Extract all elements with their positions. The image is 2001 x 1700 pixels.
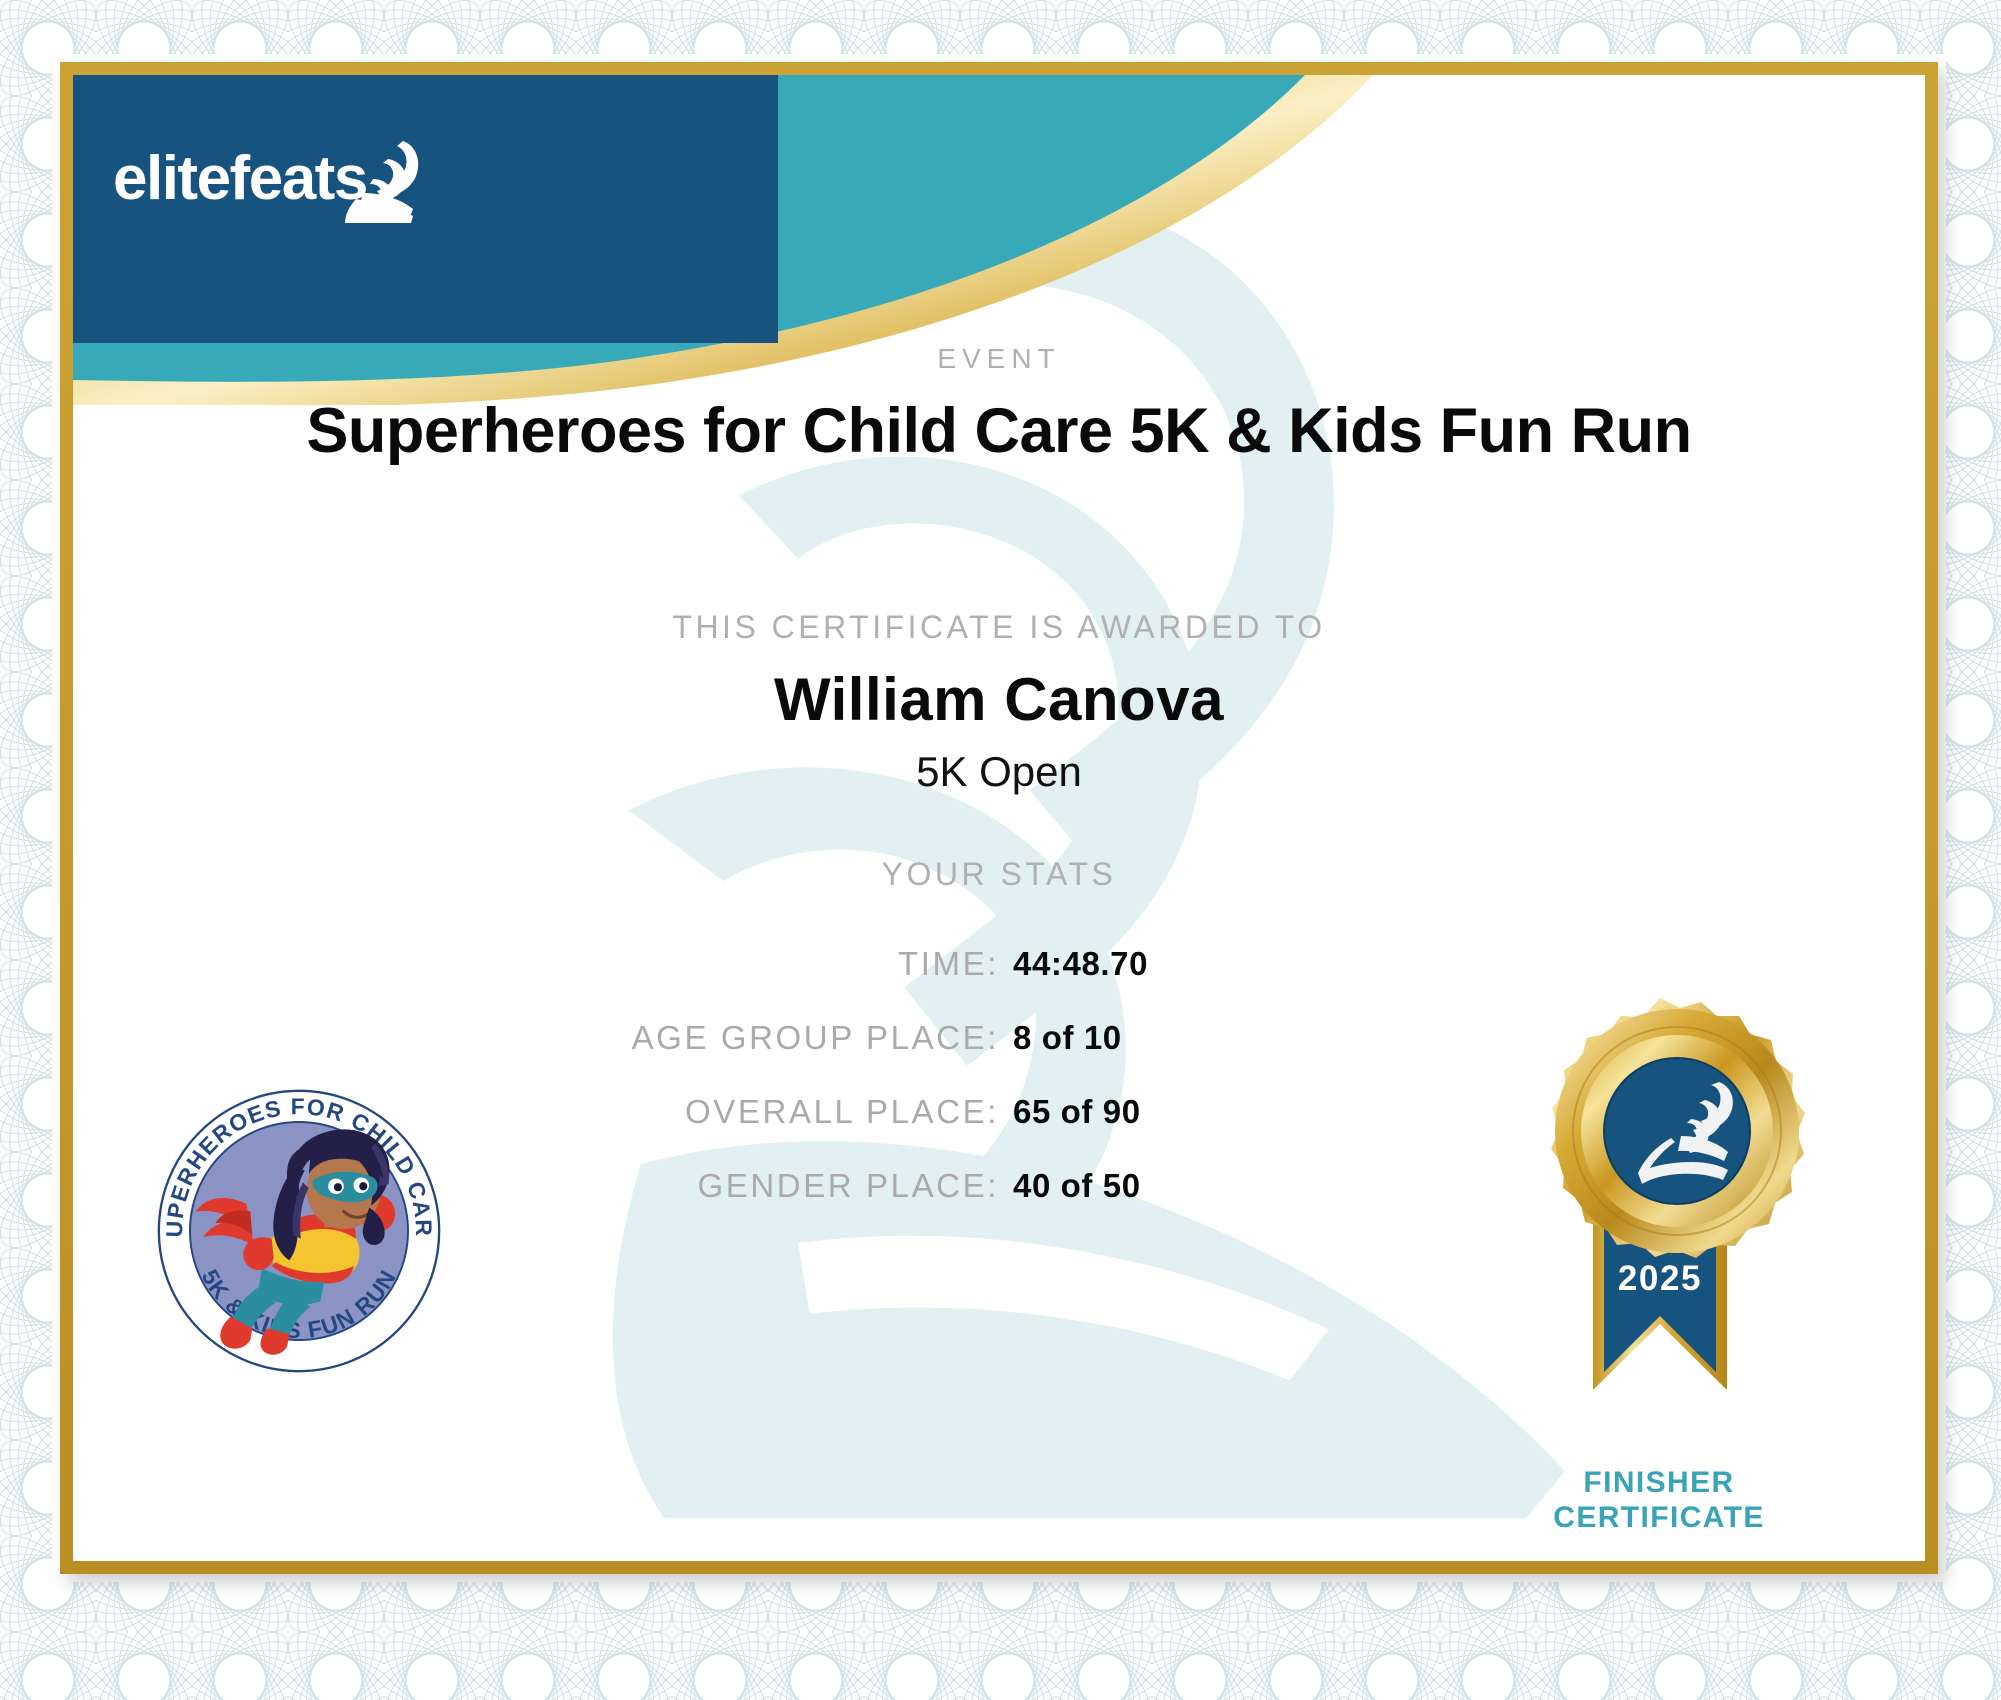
stat-value: 44:48.70: [999, 945, 1469, 983]
awarded-to-label: THIS CERTIFICATE IS AWARDED TO: [73, 609, 1925, 646]
ribbon-year-text: 2025: [1618, 1259, 1702, 1298]
certificate-card: elitefeats EVENT Superheroes for Child C…: [73, 75, 1925, 1561]
medal-caption-line1: FINISHER: [1479, 1465, 1839, 1500]
medal-caption-line2: CERTIFICATE: [1479, 1500, 1839, 1535]
event-logo-badge: SUPERHEROES FOR CHILD CARE 5K & KIDS FUN…: [153, 1085, 445, 1377]
recipient-division: 5K Open: [73, 748, 1925, 796]
medal-caption: FINISHER CERTIFICATE: [1479, 1465, 1839, 1535]
stat-label: OVERALL PLACE:: [529, 1093, 999, 1131]
medal-disc: [1551, 998, 1805, 1258]
certificate-gold-frame: elitefeats EVENT Superheroes for Child C…: [60, 62, 1938, 1574]
event-title: Superheroes for Child Care 5K & Kids Fun…: [73, 395, 1925, 467]
stat-value: 8 of 10: [999, 1019, 1469, 1057]
stat-value: 40 of 50: [999, 1167, 1469, 1205]
stat-label: TIME:: [529, 945, 999, 983]
stat-label: GENDER PLACE:: [529, 1167, 999, 1205]
your-stats-label: YOUR STATS: [73, 856, 1925, 893]
certificate-page: elitefeats EVENT Superheroes for Child C…: [0, 0, 2001, 1700]
recipient-name: William Canova: [73, 665, 1925, 734]
finisher-medal: 2025: [1505, 990, 1815, 1470]
event-label: EVENT: [73, 343, 1925, 375]
stat-label: AGE GROUP PLACE:: [529, 1019, 999, 1057]
stat-value: 65 of 90: [999, 1093, 1469, 1131]
